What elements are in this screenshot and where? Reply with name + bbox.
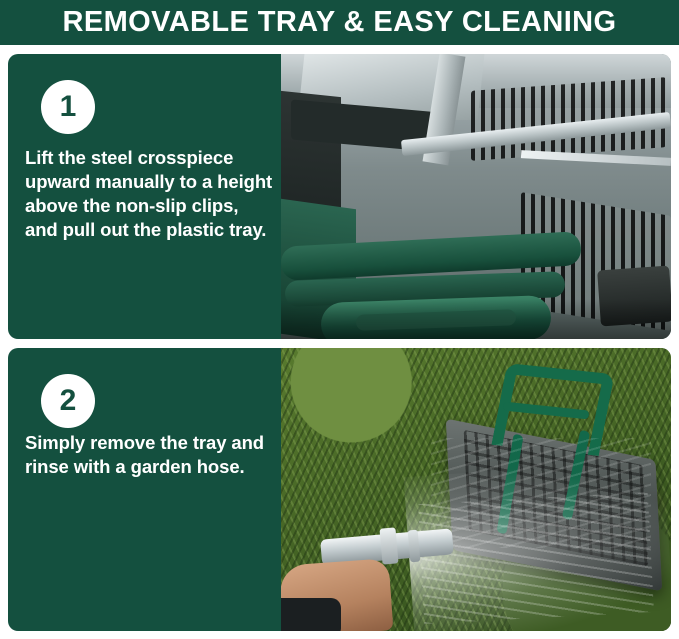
- product-feature-infographic: REMOVABLE TRAY & EASY CLEANING 1 Lift th…: [0, 0, 679, 639]
- step-panel-2: 2 Simply remove the tray and rinse with …: [8, 348, 671, 631]
- step-photo-2: A hand holding a garden hose nozzle spra…: [281, 348, 671, 631]
- page-title: REMOVABLE TRAY & EASY CLEANING: [0, 0, 679, 45]
- step-panel-1: 1 Lift the steel crosspiece upward manua…: [8, 54, 671, 339]
- step-description-2: Simply remove the tray and rinse with a …: [25, 431, 275, 479]
- step-photo-1: Close-up of a green and stainless steel …: [281, 54, 671, 339]
- step-description-1: Lift the steel crosspiece upward manuall…: [25, 146, 275, 242]
- step-number-badge-1: 1: [41, 80, 95, 134]
- step-number-badge-2: 2: [41, 374, 95, 428]
- header-banner: REMOVABLE TRAY & EASY CLEANING: [0, 0, 679, 45]
